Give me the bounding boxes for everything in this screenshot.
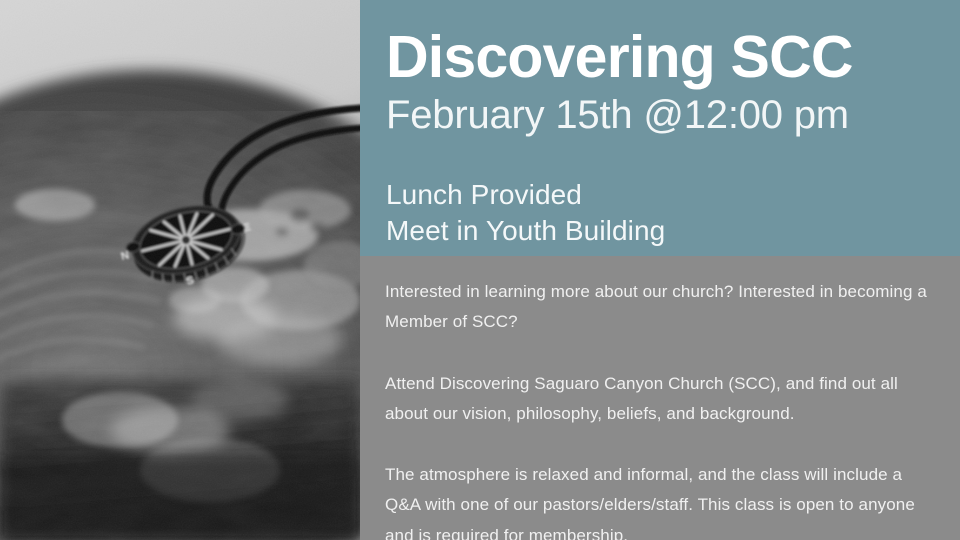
event-title: Discovering SCC bbox=[386, 26, 946, 90]
compass-photo-image: N E S bbox=[0, 0, 360, 540]
description-paragraph-2: Attend Discovering Saguaro Canyon Church… bbox=[385, 369, 930, 430]
event-datetime: February 15th @12:00 pm bbox=[386, 92, 946, 138]
event-details-block: Lunch Provided Meet in Youth Building bbox=[386, 177, 946, 248]
detail-line-lunch: Lunch Provided bbox=[386, 177, 946, 213]
headline-block: Discovering SCC February 15th @12:00 pm bbox=[386, 26, 946, 138]
event-announcement-slide: N E S bbox=[0, 0, 960, 540]
description-paragraph-1: Interested in learning more about our ch… bbox=[385, 277, 930, 338]
description-block: Interested in learning more about our ch… bbox=[385, 277, 930, 540]
description-paragraph-3: The atmosphere is relaxed and informal, … bbox=[385, 460, 930, 540]
detail-line-location: Meet in Youth Building bbox=[386, 213, 946, 249]
compass-photo: N E S bbox=[0, 0, 360, 540]
